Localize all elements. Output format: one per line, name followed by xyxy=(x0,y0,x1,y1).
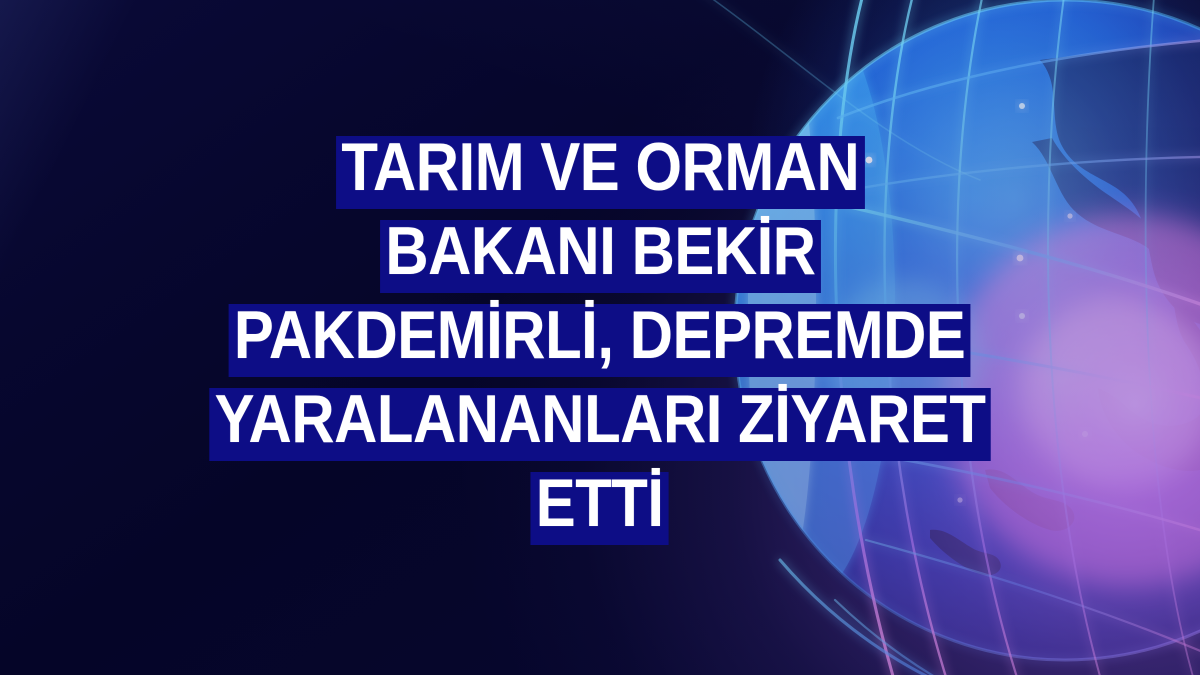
headline-line-2: BAKANI BEKİR xyxy=(380,220,821,293)
headline-line-1: TARIM VE ORMAN xyxy=(336,136,865,209)
headline-line-3: PAKDEMİRLİ, DEPREMDE xyxy=(229,304,971,377)
news-banner: TARIM VE ORMAN BAKANI BEKİR PAKDEMİRLİ, … xyxy=(0,0,1200,675)
headline-line-4: YARALANANLARI ZİYARET xyxy=(209,388,991,461)
headline-line-5: ETTİ xyxy=(531,472,669,545)
headline-block: TARIM VE ORMAN BAKANI BEKİR PAKDEMİRLİ, … xyxy=(0,0,1200,675)
